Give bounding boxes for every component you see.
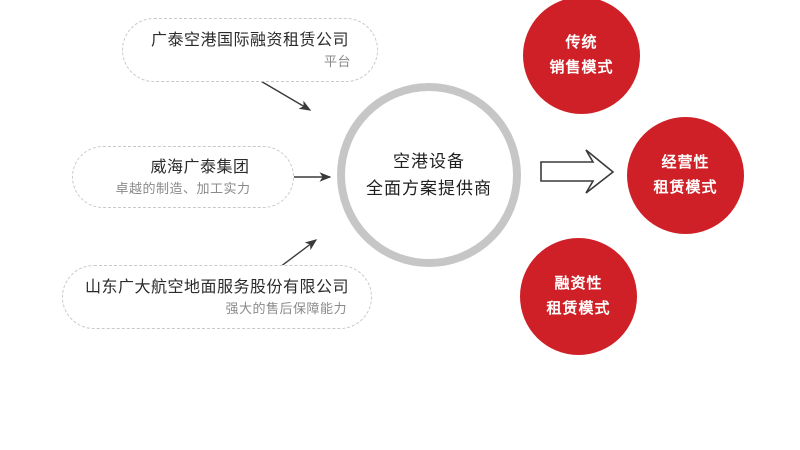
mode-operating-line-1: 经营性	[661, 151, 709, 176]
mode-operating-line-2: 租赁模式	[653, 176, 717, 201]
source-subtitle-platform: 平台	[141, 52, 359, 72]
source-box-platform[interactable]: 广泰空港国际融资租赁公司 平台	[122, 18, 378, 82]
center-ring-node[interactable]: 空港设备 全面方案提供商	[337, 83, 521, 267]
source-title-manufacture: 威海广泰集团	[91, 156, 275, 179]
mode-financing-line-1: 融资性	[554, 272, 602, 297]
source-box-manufacture[interactable]: 威海广泰集团 卓越的制造、加工实力	[72, 146, 294, 208]
mode-traditional-line-2: 销售模式	[549, 56, 613, 81]
source-title-platform: 广泰空港国际融资租赁公司	[141, 29, 359, 52]
mode-circle-operating[interactable]: 经营性 租赁模式	[627, 117, 744, 234]
arrow-center-to-modes	[541, 150, 613, 193]
mode-traditional-line-1: 传统	[565, 31, 597, 56]
center-line-1: 空港设备	[393, 148, 465, 175]
source-title-service: 山东广大航空地面服务股份有限公司	[81, 276, 353, 299]
source-subtitle-manufacture: 卓越的制造、加工实力	[91, 179, 275, 199]
mode-financing-line-2: 租赁模式	[546, 297, 610, 322]
arrow-platform-to-center	[259, 80, 310, 110]
mode-circle-financing[interactable]: 融资性 租赁模式	[520, 238, 637, 355]
capability-diagram: 广泰空港国际融资租赁公司 平台 威海广泰集团 卓越的制造、加工实力 山东广大航空…	[0, 0, 800, 450]
center-line-2: 全面方案提供商	[366, 175, 492, 202]
source-subtitle-service: 强大的售后保障能力	[81, 299, 353, 319]
mode-circle-traditional[interactable]: 传统 销售模式	[523, 0, 640, 114]
source-box-service[interactable]: 山东广大航空地面服务股份有限公司 强大的售后保障能力	[62, 265, 372, 329]
